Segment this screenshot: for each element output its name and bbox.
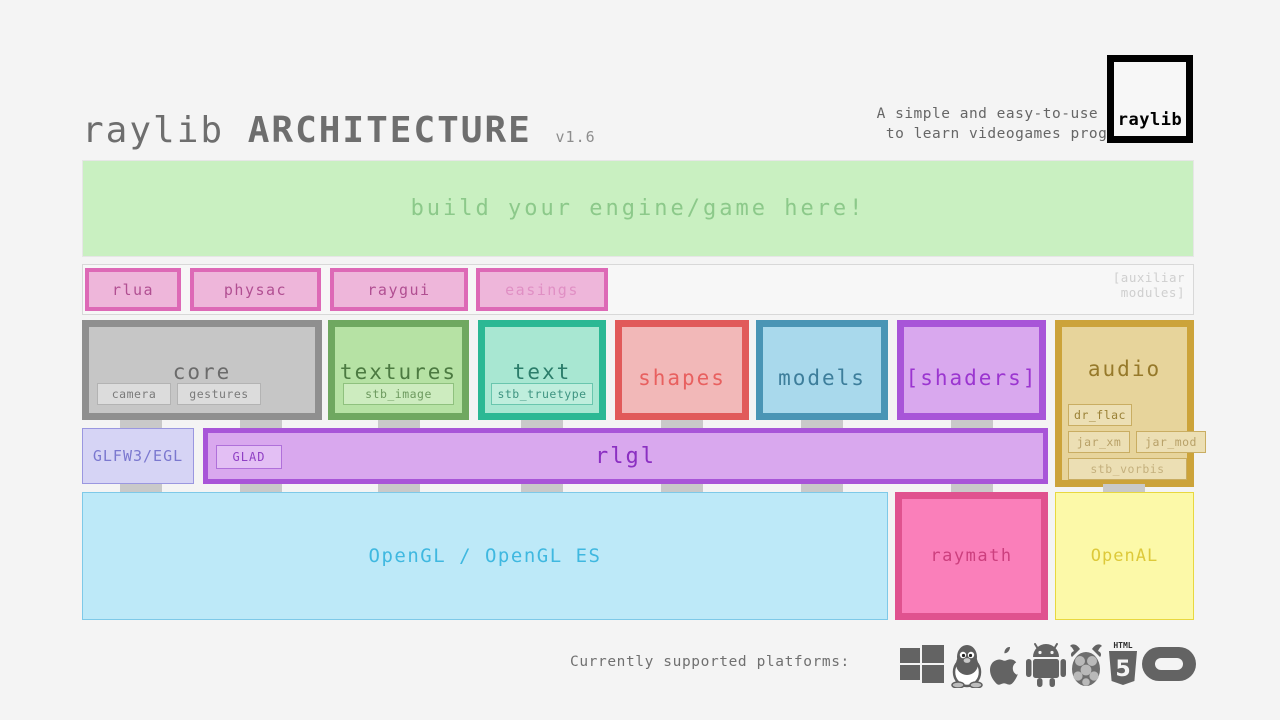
layer-openal[interactable]: OpenAL: [1055, 492, 1194, 620]
build-area-label: build your engine/game here!: [411, 196, 866, 221]
layer-opengl[interactable]: OpenGL / OpenGL ES: [82, 492, 888, 620]
layer-rlgl[interactable]: rlgl GLAD: [203, 428, 1048, 484]
aux-module-label: physac: [224, 281, 287, 299]
svg-text:HTML: HTML: [1113, 641, 1132, 650]
auxiliar-note-line-2: modules]: [1113, 285, 1185, 300]
aux-module-label: easings: [505, 281, 579, 299]
layer-label: raymath: [930, 546, 1012, 566]
windows-icon: [898, 640, 946, 692]
module-label: audio: [1062, 357, 1187, 381]
layer-label: OpenGL / OpenGL ES: [369, 545, 602, 567]
module-label: text: [485, 360, 599, 384]
module-label: core: [89, 360, 315, 384]
module-core[interactable]: core camera gestures: [82, 320, 322, 420]
layer-label: GLFW3/EGL: [93, 447, 183, 465]
module-models[interactable]: models: [756, 320, 888, 420]
layer-sub-glad: GLAD: [216, 445, 282, 469]
module-sub-gestures: gestures: [177, 383, 261, 405]
logo-label: raylib: [1114, 110, 1186, 130]
module-sub-stb-vorbis: stb_vorbis: [1068, 458, 1187, 480]
title-main: raylib: [82, 110, 224, 151]
module-label: [shaders]: [904, 366, 1039, 390]
module-label: shapes: [622, 366, 742, 390]
module-text[interactable]: text stb_truetype: [478, 320, 606, 420]
layer-glfw3-egl[interactable]: GLFW3/EGL: [82, 428, 194, 484]
module-sub-camera: camera: [97, 383, 171, 405]
svg-text:5: 5: [1115, 657, 1130, 682]
module-shaders[interactable]: [shaders]: [897, 320, 1046, 420]
oculus-vr-icon: [1141, 646, 1197, 686]
aux-module-rlua[interactable]: rlua: [85, 268, 181, 311]
module-label: models: [763, 366, 881, 390]
module-label: textures: [335, 360, 462, 384]
supported-platforms-label: Currently supported platforms:: [570, 654, 850, 670]
raspberry-pi-icon: [1064, 640, 1108, 692]
module-shapes[interactable]: shapes: [615, 320, 749, 420]
title-sub: ARCHITECTURE: [248, 110, 532, 151]
aux-module-physac[interactable]: physac: [190, 268, 321, 311]
version-label: v1.6: [556, 128, 596, 146]
aux-module-label: raygui: [367, 281, 430, 299]
build-area-block: build your engine/game here!: [82, 160, 1194, 257]
raylib-logo: raylib: [1107, 55, 1193, 143]
apple-icon: [984, 640, 1026, 692]
module-sub-jar-mod: jar_mod: [1136, 431, 1206, 453]
aux-module-raygui[interactable]: raygui: [330, 268, 468, 311]
module-sub-stb-truetype: stb_truetype: [491, 383, 593, 405]
module-textures[interactable]: textures stb_image: [328, 320, 469, 420]
auxiliar-note-line-1: [auxiliar: [1113, 270, 1185, 285]
architecture-diagram: raylib ARCHITECTURE v1.6 A simple and ea…: [0, 0, 1280, 720]
module-sub-stb-image: stb_image: [343, 383, 454, 405]
layer-raymath[interactable]: raymath: [895, 492, 1048, 620]
module-sub-jar-xm: jar_xm: [1068, 431, 1130, 453]
layer-label: rlgl: [595, 444, 656, 469]
android-icon: [1025, 640, 1067, 692]
aux-module-label: rlua: [112, 281, 154, 299]
auxiliar-modules-note: [auxiliar modules]: [1113, 270, 1185, 300]
page-title: raylib ARCHITECTURE v1.6: [82, 110, 596, 151]
html5-icon: HTML 5: [1105, 640, 1141, 692]
module-sub-dr-flac: dr_flac: [1068, 404, 1132, 426]
module-audio[interactable]: audio dr_flac jar_xm jar_mod stb_vorbis: [1055, 320, 1194, 487]
layer-label: OpenAL: [1091, 546, 1158, 566]
aux-module-easings[interactable]: easings: [476, 268, 608, 311]
